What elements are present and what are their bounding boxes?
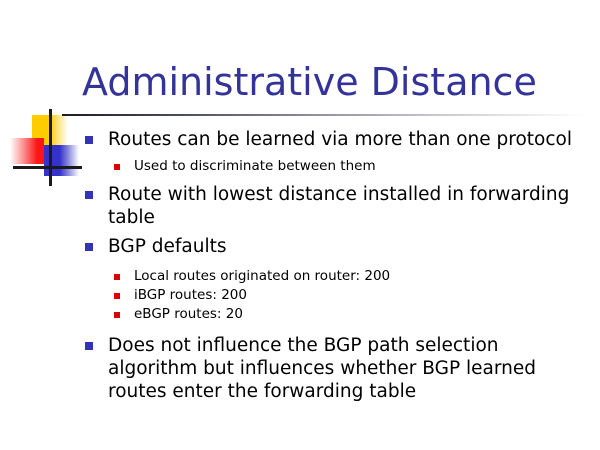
bullet-square-icon bbox=[85, 136, 93, 144]
spacer bbox=[0, 324, 600, 334]
bullet-item-level1: Routes can be learned via more than one … bbox=[0, 128, 600, 151]
bullet-square-icon bbox=[114, 312, 120, 318]
bullet-text: Route with lowest distance installed in … bbox=[108, 184, 569, 228]
bullet-text: iBGP routes: 200 bbox=[134, 287, 247, 303]
bullet-text: Used to discriminate between them bbox=[134, 158, 376, 174]
presentation-slide: Administrative Distance Routes can be le… bbox=[0, 0, 600, 450]
slide-body: Routes can be learned via more than one … bbox=[0, 128, 600, 405]
bullet-square-icon bbox=[114, 274, 120, 280]
bullet-item-level2: Used to discriminate between them bbox=[0, 157, 600, 176]
bullet-square-icon bbox=[85, 342, 93, 350]
bullet-item-level1: BGP defaults bbox=[0, 235, 600, 258]
bullet-text: Does not influence the BGP path selectio… bbox=[108, 335, 536, 402]
bullet-item-level1: Does not influence the BGP path selectio… bbox=[0, 334, 600, 403]
bullet-item-level2: iBGP routes: 200 bbox=[0, 286, 600, 305]
bullet-item-level2: eBGP routes: 20 bbox=[0, 305, 600, 324]
bullet-square-icon bbox=[114, 164, 120, 170]
slide-title: Administrative Distance bbox=[82, 60, 537, 104]
bullet-square-icon bbox=[85, 243, 93, 251]
spacer bbox=[0, 260, 600, 267]
bullet-item-level2: Local routes originated on router: 200 bbox=[0, 267, 600, 286]
bullet-text: Routes can be learned via more than one … bbox=[108, 129, 572, 150]
spacer bbox=[0, 176, 600, 183]
bullet-item-level1: Route with lowest distance installed in … bbox=[0, 183, 600, 229]
bullet-text: Local routes originated on router: 200 bbox=[134, 268, 390, 284]
bullet-square-icon bbox=[85, 191, 93, 199]
bullet-square-icon bbox=[114, 293, 120, 299]
title-underline-rule bbox=[62, 114, 587, 116]
bullet-text: BGP defaults bbox=[108, 236, 226, 257]
bullet-text: eBGP routes: 20 bbox=[134, 306, 243, 322]
